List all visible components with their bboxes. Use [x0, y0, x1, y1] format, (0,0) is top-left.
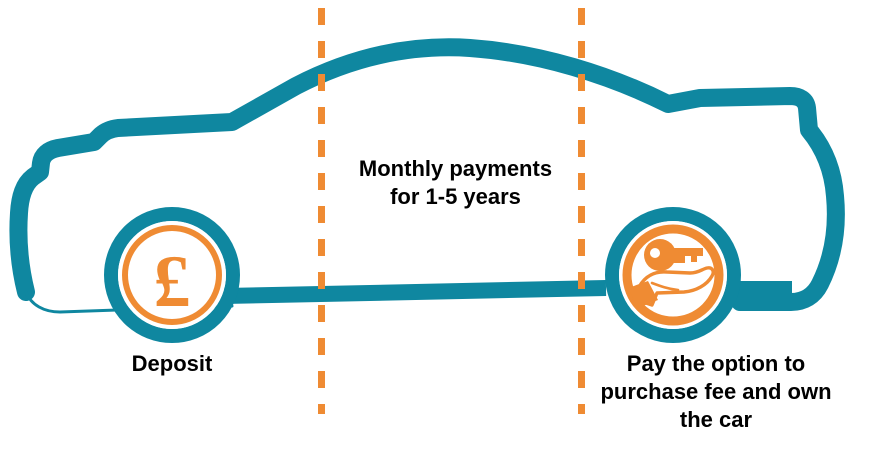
key-head-hole — [650, 248, 660, 258]
stage-label-deposit: Deposit — [102, 350, 242, 378]
key-head — [644, 239, 676, 271]
car-sill-line — [224, 288, 606, 296]
stage-label-final-payment: Pay the option to purchase fee and own t… — [588, 350, 844, 434]
stage-icon-deposit: £ — [111, 214, 233, 336]
pound-sterling-icon: £ — [154, 241, 191, 323]
stage-label-monthly-payments: Monthly payments for 1-5 years — [333, 155, 578, 211]
pcp-car-finance-infographic: £ — [0, 0, 870, 451]
stage-icon-final-payment — [612, 214, 734, 336]
